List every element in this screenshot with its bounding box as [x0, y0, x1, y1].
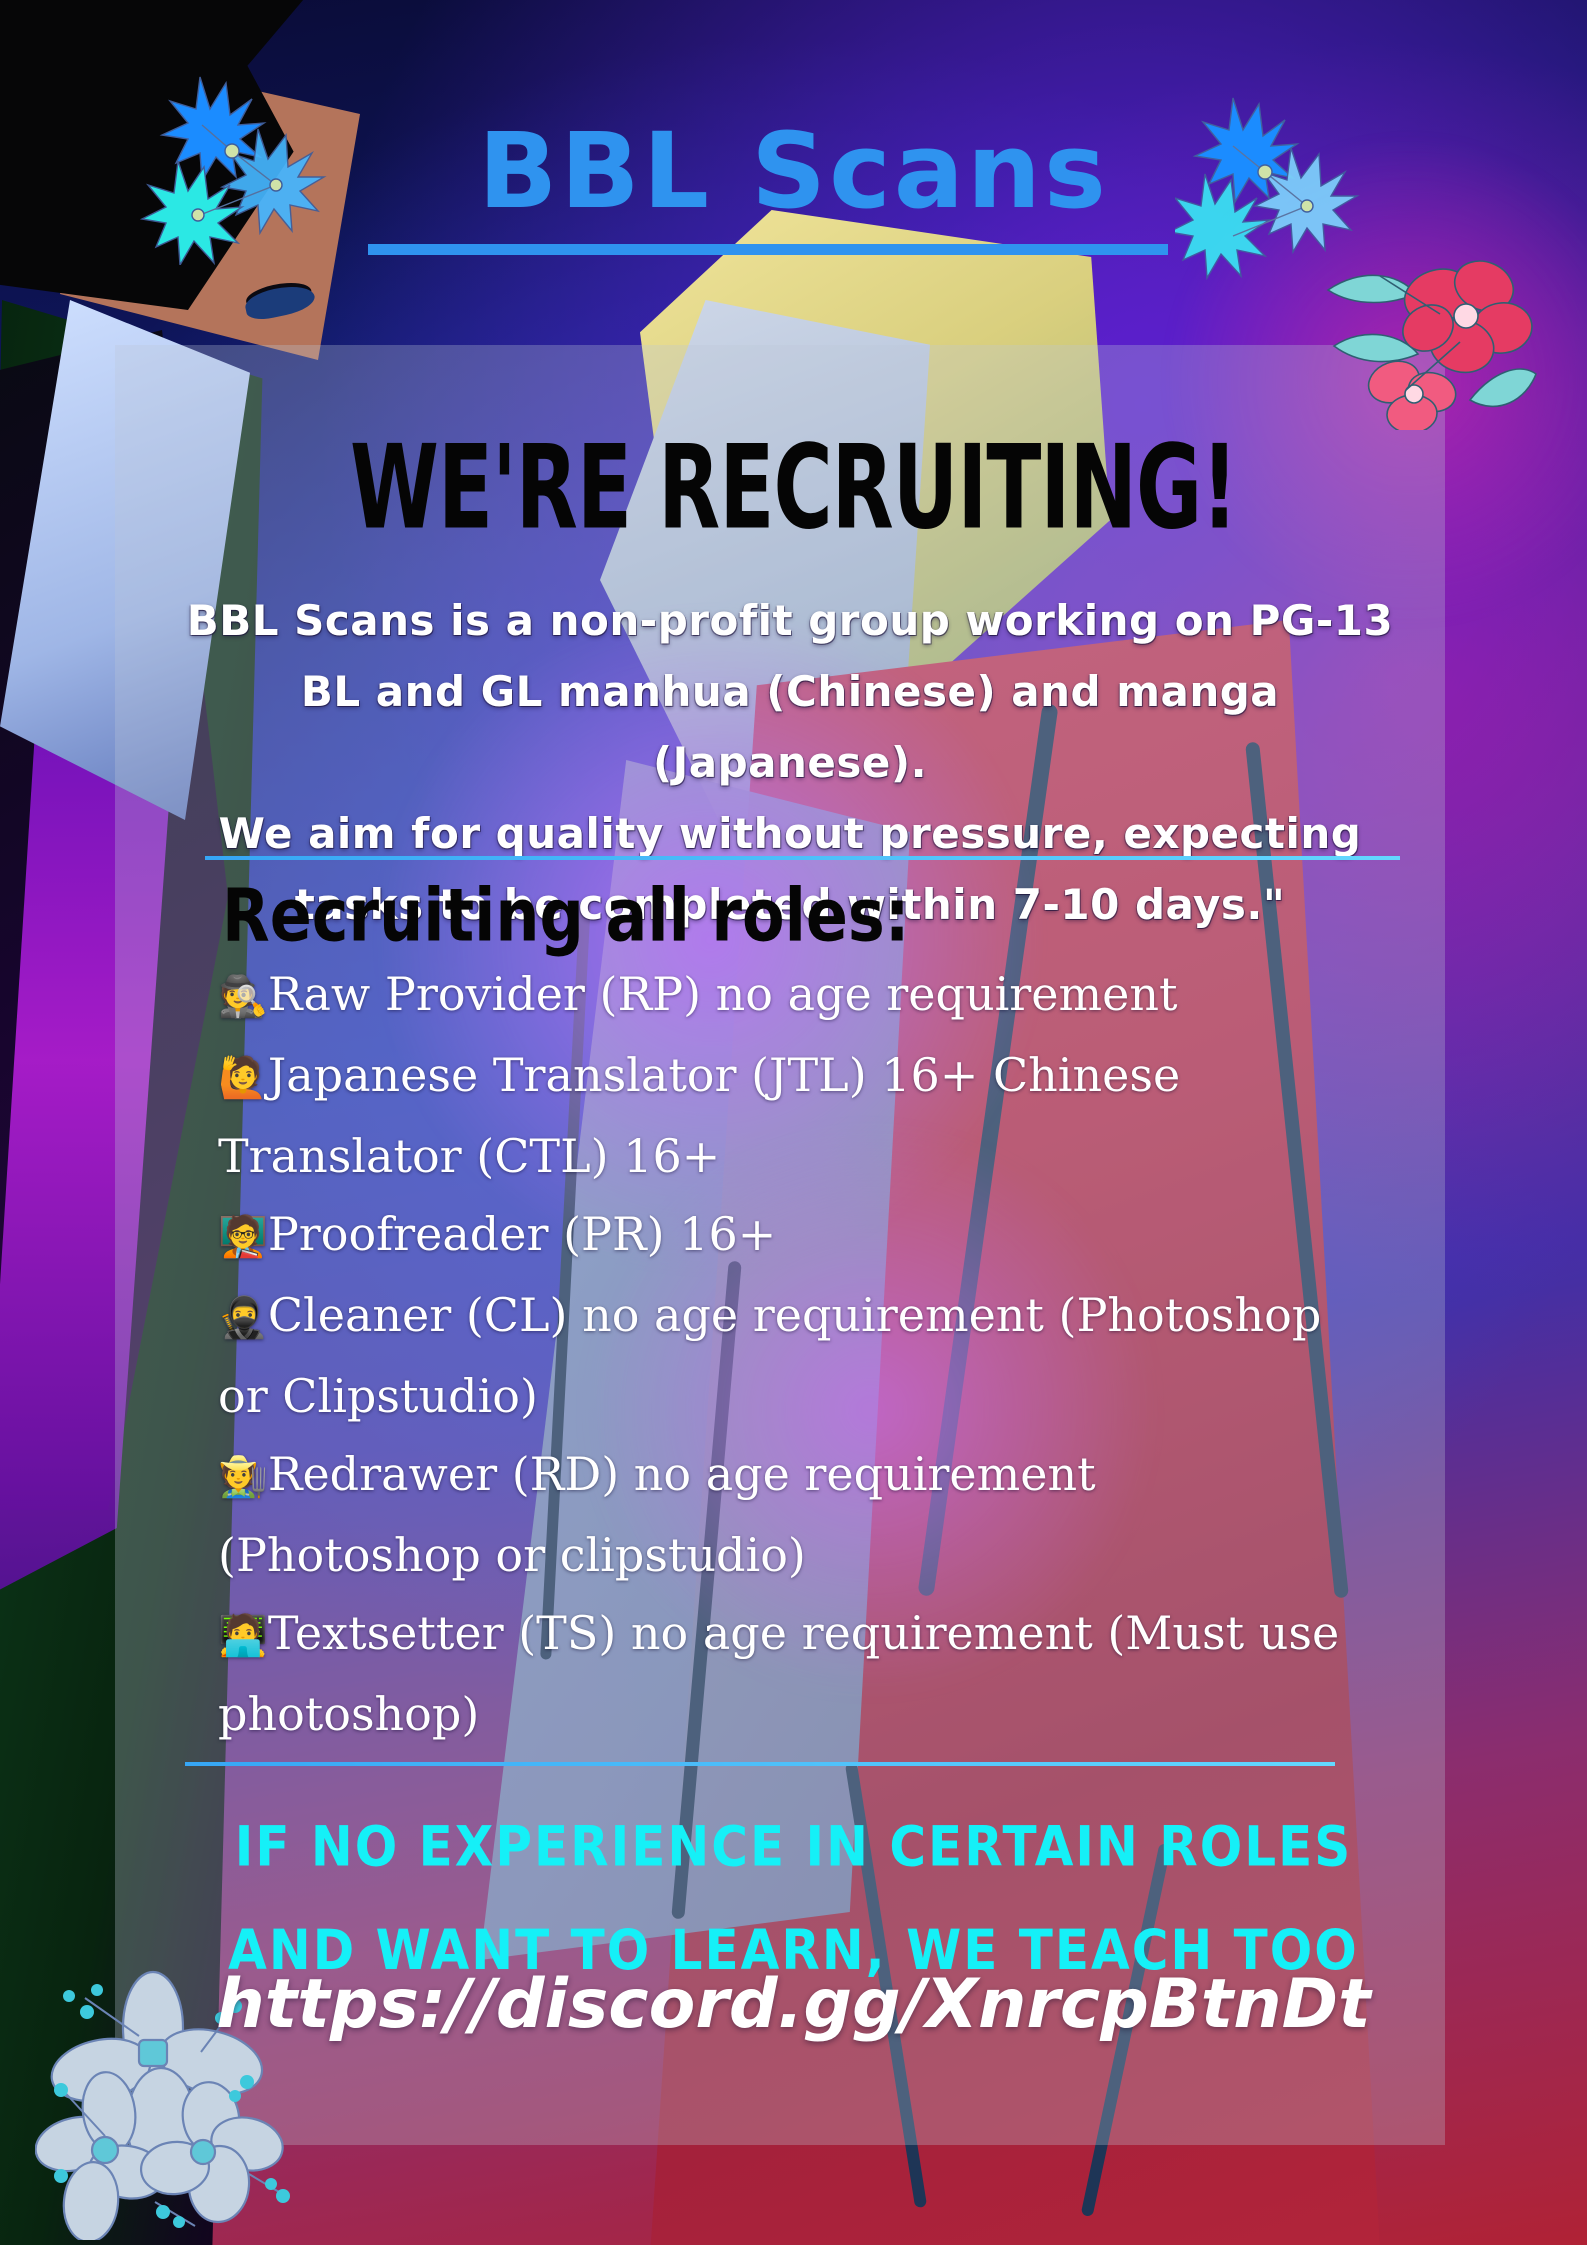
ninja-emoji: 🥷: [218, 1295, 268, 1341]
teacher-emoji: 🧑‍🏫: [218, 1214, 268, 1260]
role-item-label: Textsetter (TS) no age requirement (Must…: [218, 1606, 1339, 1741]
divider-top: [205, 856, 1400, 860]
role-item-label: Japanese Translator (JTL) 16+ Chinese Tr…: [218, 1048, 1180, 1183]
role-item: 🙋Japanese Translator (JTL) 16+ Chinese T…: [218, 1036, 1348, 1195]
role-item: 🧑‍🌾Redrawer (RD) no age requirement (Pho…: [218, 1435, 1348, 1594]
farmer-emoji: 🧑‍🌾: [218, 1454, 268, 1500]
page-title: BBL Scans: [0, 110, 1587, 232]
discord-invite-link[interactable]: https://discord.gg/XnrcpBtnDt: [0, 1965, 1587, 2044]
role-item-label: Proofreader (PR) 16+: [268, 1207, 776, 1261]
role-item: 🥷Cleaner (CL) no age requirement (Photos…: [218, 1276, 1348, 1435]
role-item-label: Raw Provider (RP) no age requirement: [268, 967, 1178, 1021]
role-item: 🧑‍💻Textsetter (TS) no age requirement (M…: [218, 1594, 1348, 1753]
roles-list: 🕵️Raw Provider (RP) no age requirement🙋J…: [218, 955, 1348, 1753]
detective-emoji: 🕵️: [218, 974, 268, 1020]
roles-heading: Recruiting all roles:: [222, 872, 910, 958]
recruitment-poster: BBL Scans WE'RE RECRUITING! BBL Scans is…: [0, 0, 1587, 2245]
teaching-note-line-1: IF NO EXPERIENCE IN CERTAIN ROLES: [0, 1795, 1587, 1898]
pink-hibiscus-cluster-icon: [1320, 250, 1540, 430]
role-item-label: Cleaner (CL) no age requirement (Photosh…: [218, 1288, 1321, 1423]
recruiting-headline: WE'RE RECRUITING!: [32, 420, 1556, 555]
intro-line-2: BL and GL manhua (Chinese) and manga (Ja…: [160, 656, 1420, 798]
technologist-emoji: 🧑‍💻: [218, 1613, 268, 1659]
role-item: 🕵️Raw Provider (RP) no age requirement: [218, 955, 1348, 1036]
role-item-label: Redrawer (RD) no age requirement (Photos…: [218, 1447, 1096, 1582]
title-underline: [368, 244, 1168, 255]
role-item: 🧑‍🏫Proofreader (PR) 16+: [218, 1195, 1348, 1276]
divider-bottom: [185, 1762, 1335, 1766]
intro-line-1: BBL Scans is a non-profit group working …: [160, 585, 1420, 656]
person-raising-hand-emoji: 🙋: [218, 1055, 268, 1101]
